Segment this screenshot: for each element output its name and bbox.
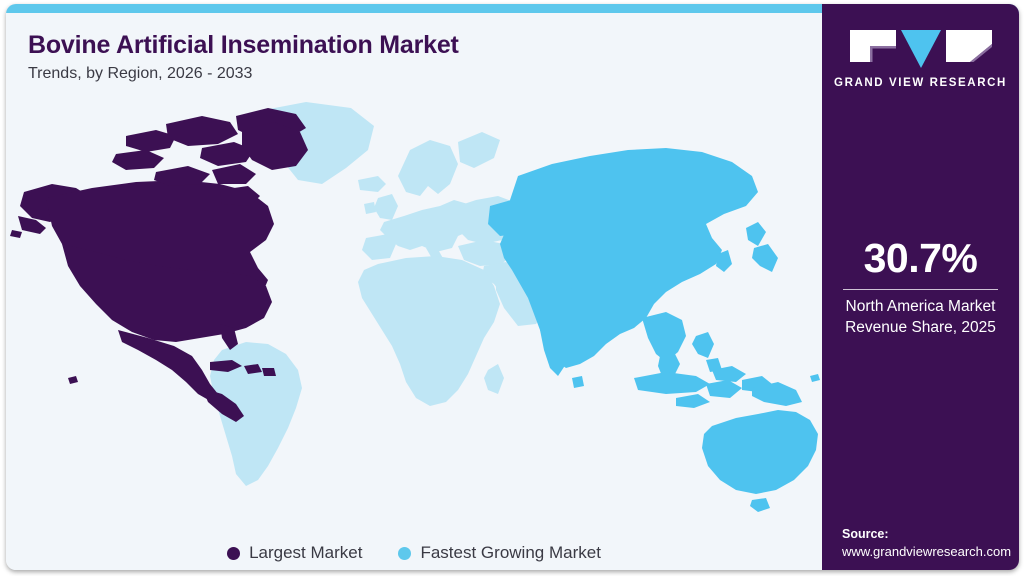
legend-item-label: Fastest Growing Market	[420, 543, 600, 563]
stat-caption-line-1: North America Market	[822, 297, 1019, 318]
world-map	[6, 88, 822, 518]
stat-panel: GRAND VIEW RESEARCH 30.7% North America …	[822, 4, 1019, 570]
legend-item-largest-market: Largest Market	[227, 543, 362, 563]
source-url[interactable]: www.grandviewresearch.com	[842, 543, 1019, 561]
logo-letter-g-icon	[850, 30, 896, 62]
legend-dot-icon	[227, 547, 240, 560]
map-panel: Bovine Artificial Insemination Market Tr…	[6, 13, 822, 570]
legend-item-label: Largest Market	[249, 543, 362, 563]
logo-marks	[850, 30, 992, 68]
map-legend: Largest Market Fastest Growing Market	[6, 533, 822, 570]
stat-block: 30.7% North America Market Revenue Share…	[822, 236, 1019, 339]
stat-divider	[843, 289, 998, 290]
legend-dot-icon	[398, 547, 411, 560]
logo-letter-v-icon	[901, 30, 941, 68]
page-subtitle: Trends, by Region, 2026 - 2033	[28, 65, 252, 83]
logo-letter-r-icon	[946, 30, 992, 62]
page-title: Bovine Artificial Insemination Market	[28, 31, 459, 60]
world-map-svg	[6, 88, 822, 518]
stat-caption: North America Market Revenue Share, 2025	[822, 297, 1019, 339]
stat-caption-line-2: Revenue Share, 2025	[822, 318, 1019, 339]
logo-wordmark: GRAND VIEW RESEARCH	[834, 77, 1007, 89]
legend-item-fastest-growing-market: Fastest Growing Market	[398, 543, 600, 563]
brand-logo: GRAND VIEW RESEARCH	[822, 30, 1019, 89]
stat-value: 30.7%	[822, 236, 1019, 280]
source-block: Source: www.grandviewresearch.com	[842, 526, 1019, 560]
infographic-card: Bovine Artificial Insemination Market Tr…	[6, 4, 1019, 570]
source-label: Source:	[842, 526, 1019, 543]
